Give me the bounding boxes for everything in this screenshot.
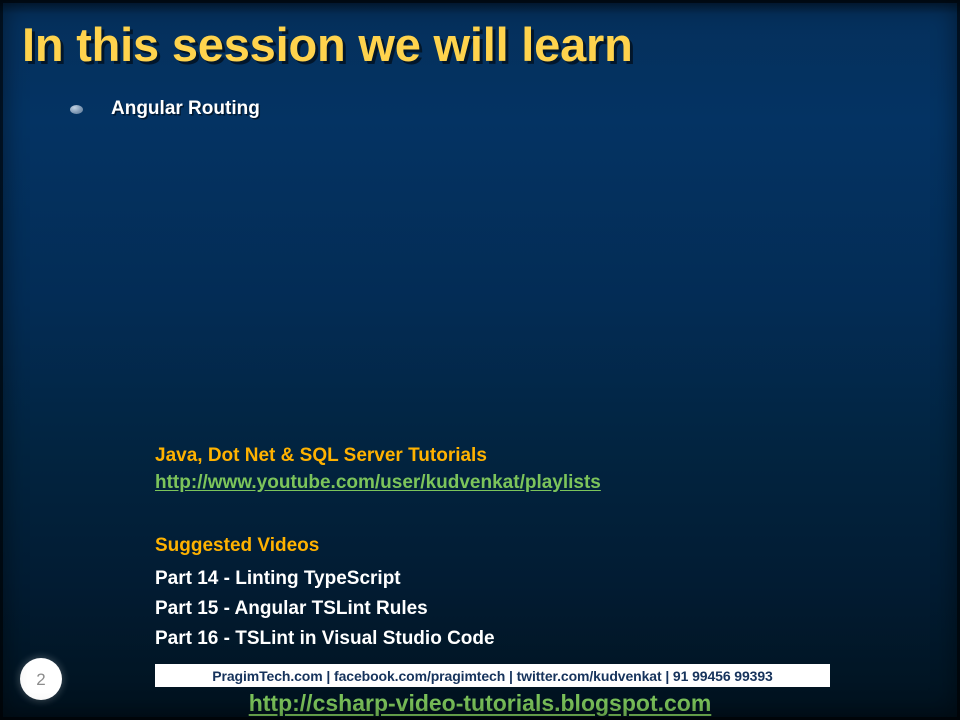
blog-link-container: http://csharp-video-tutorials.blogspot.c… <box>0 690 960 717</box>
contact-info-text: PragimTech.com | facebook.com/pragimtech… <box>212 668 773 684</box>
suggested-video-item: Part 14 - Linting TypeScript <box>155 564 495 594</box>
contact-info-bar: PragimTech.com | facebook.com/pragimtech… <box>155 664 830 687</box>
bullet-dot-icon <box>70 105 83 114</box>
promo-heading: Java, Dot Net & SQL Server Tutorials <box>155 446 601 466</box>
suggested-video-item: Part 15 - Angular TSLint Rules <box>155 594 495 624</box>
suggested-videos-block: Suggested Videos Part 14 - Linting TypeS… <box>155 536 495 654</box>
presentation-slide: In this session we will learn Angular Ro… <box>0 0 960 720</box>
blog-url-link[interactable]: http://csharp-video-tutorials.blogspot.c… <box>249 690 712 717</box>
suggested-videos-heading: Suggested Videos <box>155 536 495 555</box>
bullet-item-label: Angular Routing <box>111 98 260 120</box>
promo-block: Java, Dot Net & SQL Server Tutorials htt… <box>155 446 601 494</box>
slide-title: In this session we will learn <box>22 17 633 72</box>
youtube-playlists-link[interactable]: http://www.youtube.com/user/kudvenkat/pl… <box>155 472 601 494</box>
suggested-video-item: Part 16 - TSLint in Visual Studio Code <box>155 624 495 654</box>
bullet-list-item: Angular Routing <box>70 98 260 120</box>
page-number-value: 2 <box>36 671 45 688</box>
